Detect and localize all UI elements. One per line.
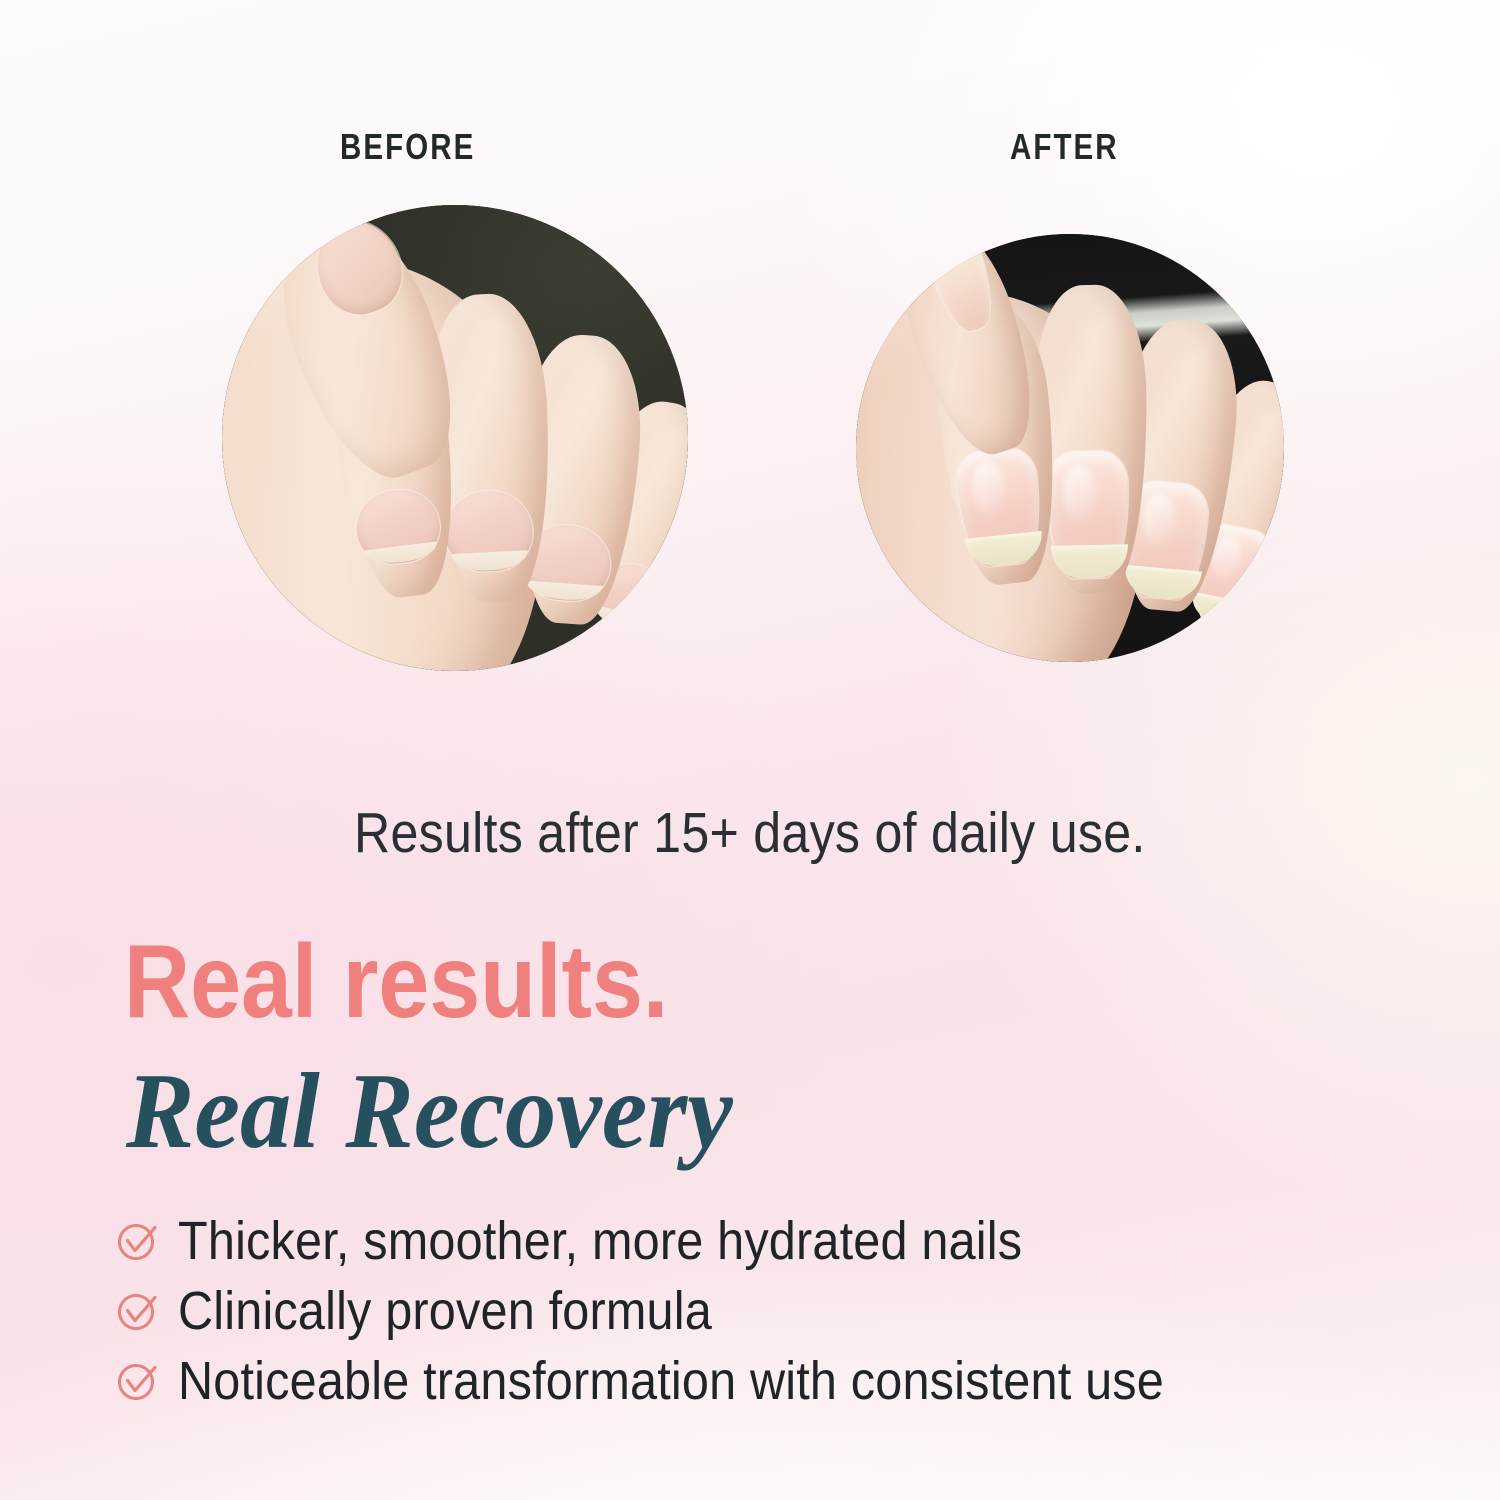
- circle-check-icon: [114, 1218, 160, 1264]
- before-nail-tip: [452, 550, 529, 572]
- headline-primary: Real results.: [124, 930, 668, 1034]
- after-nail-free-edge: [964, 531, 1044, 569]
- benefit-item: Clinically proven formula: [114, 1276, 1444, 1346]
- after-nail-free-edge: [1050, 545, 1127, 579]
- before-photo-content: [222, 205, 688, 671]
- benefit-item: Noticeable transformation with consisten…: [114, 1346, 1444, 1416]
- benefit-label: Clinically proven formula: [178, 1280, 712, 1342]
- before-nail-middle: [443, 488, 533, 572]
- before-nail-tip: [364, 542, 438, 567]
- benefit-label: Noticeable transformation with consisten…: [178, 1350, 1164, 1412]
- before-photo: [222, 205, 688, 671]
- after-photo: [856, 234, 1284, 662]
- results-caption: Results after 15+ days of daily use.: [0, 800, 1500, 866]
- benefit-label: Thicker, smoother, more hydrated nails: [178, 1210, 1022, 1272]
- after-nail-middle: [1047, 451, 1129, 579]
- after-photo-content: [856, 234, 1284, 662]
- after-label: AFTER: [1010, 126, 1119, 168]
- before-nail-tip: [526, 581, 603, 603]
- results-caption-text: Results after 15+ days of daily use.: [354, 800, 1146, 866]
- headline-secondary: Real Recovery: [126, 1058, 733, 1166]
- before-label: BEFORE: [340, 126, 475, 168]
- benefits-list: Thicker, smoother, more hydrated nails C…: [114, 1206, 1444, 1416]
- circle-check-icon: [114, 1358, 160, 1404]
- circle-check-icon: [114, 1288, 160, 1334]
- before-after-results-graphic: BEFORE AFTER: [0, 0, 1500, 1500]
- before-nail-index: [352, 486, 443, 568]
- benefit-item: Thicker, smoother, more hydrated nails: [114, 1206, 1444, 1276]
